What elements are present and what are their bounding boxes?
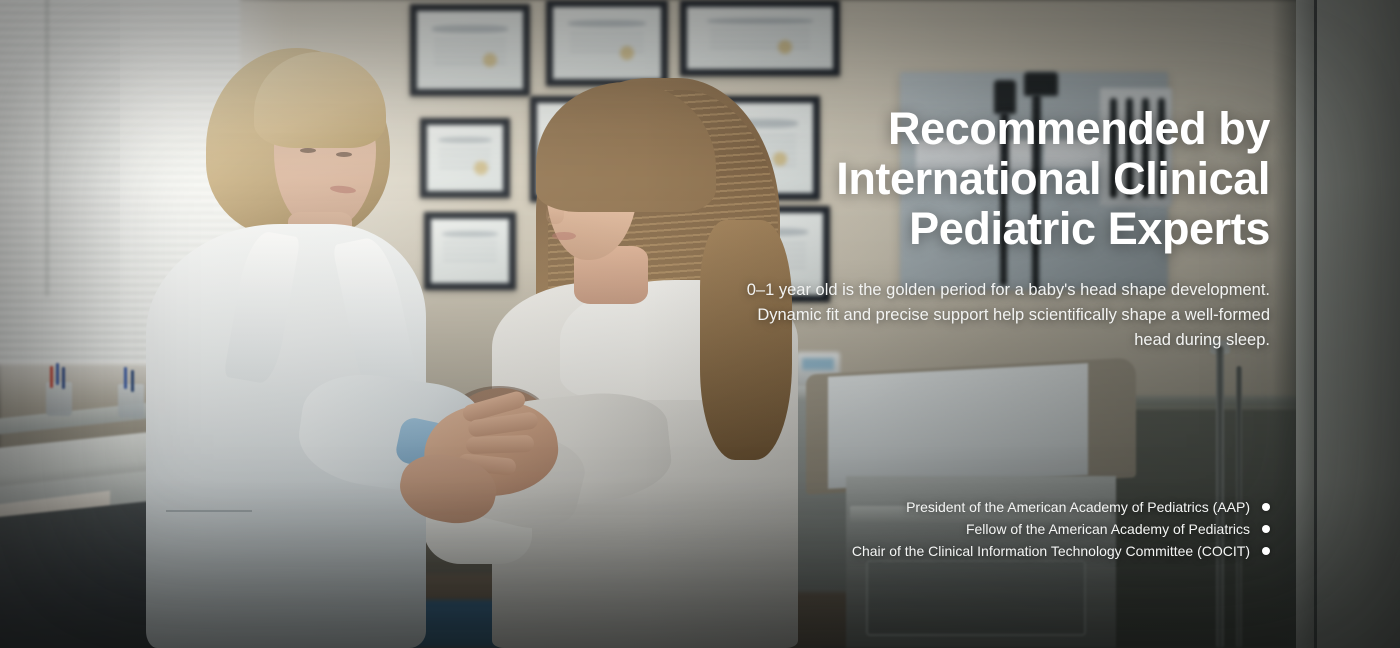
pen (62, 367, 65, 389)
list-item: Chair of the Clinical Information Techno… (852, 540, 1270, 562)
diploma-frame (424, 212, 516, 290)
diploma-seal (474, 161, 488, 175)
diploma-mat (687, 7, 833, 69)
mother-lips (552, 232, 576, 240)
pen (124, 367, 127, 389)
diploma-text-lines (443, 242, 496, 264)
headline-line: International Clinical (670, 154, 1270, 204)
doctor-eye (336, 152, 352, 157)
headline-line: Pediatric Experts (670, 204, 1270, 254)
credential-text: Chair of the Clinical Information Techno… (852, 540, 1250, 562)
bullet-dot-icon (1262, 525, 1270, 533)
pen (50, 366, 53, 388)
pen-cup (118, 384, 144, 418)
diploma-seal (483, 53, 497, 67)
diploma-seal (778, 40, 792, 54)
pen-cup (46, 382, 72, 416)
page-title: Recommended by International Clinical Pe… (670, 104, 1270, 254)
description-line: Dynamic fit and precise support help sci… (670, 303, 1270, 328)
exam-table-drawer (866, 560, 1086, 636)
pen (56, 363, 59, 385)
diploma-frame (420, 118, 510, 198)
doctor-finger (466, 435, 535, 454)
lab-coat-pocket (166, 510, 252, 570)
credentials-list: President of the American Academy of Ped… (852, 496, 1270, 562)
description-line: 0–1 year old is the golden period for a … (670, 278, 1270, 303)
diploma-mat (431, 219, 509, 283)
diploma-mat (427, 125, 503, 191)
headline-line: Recommended by (670, 104, 1270, 154)
credential-text: President of the American Academy of Ped… (906, 496, 1250, 518)
hero-description: 0–1 year old is the golden period for a … (670, 278, 1270, 353)
blind-cord (46, 0, 48, 296)
diploma-frame (680, 0, 840, 76)
description-line: head during sleep. (670, 328, 1270, 353)
ophthalmoscope-head (1024, 72, 1058, 96)
hero-copy-block: Recommended by International Clinical Pe… (670, 104, 1270, 353)
diploma-frame (410, 4, 530, 96)
diploma-frame (546, 0, 668, 86)
cabinet-edge-shadow (1272, 0, 1298, 648)
exam-table-paper (828, 363, 1088, 489)
bullet-dot-icon (1262, 503, 1270, 511)
diploma-seal (620, 46, 634, 60)
bullet-dot-icon (1262, 547, 1270, 555)
hero-banner: Recommended by International Clinical Pe… (0, 0, 1400, 648)
list-item: President of the American Academy of Ped… (852, 496, 1270, 518)
diploma-mat (417, 11, 523, 89)
diploma-text-lines (710, 29, 809, 50)
pen (131, 370, 134, 392)
credential-text: Fellow of the American Academy of Pediat… (966, 518, 1250, 540)
doctor-eye (300, 148, 316, 153)
diploma-mat (553, 7, 661, 79)
storage-cabinet (1296, 0, 1400, 648)
list-item: Fellow of the American Academy of Pediat… (852, 518, 1270, 540)
